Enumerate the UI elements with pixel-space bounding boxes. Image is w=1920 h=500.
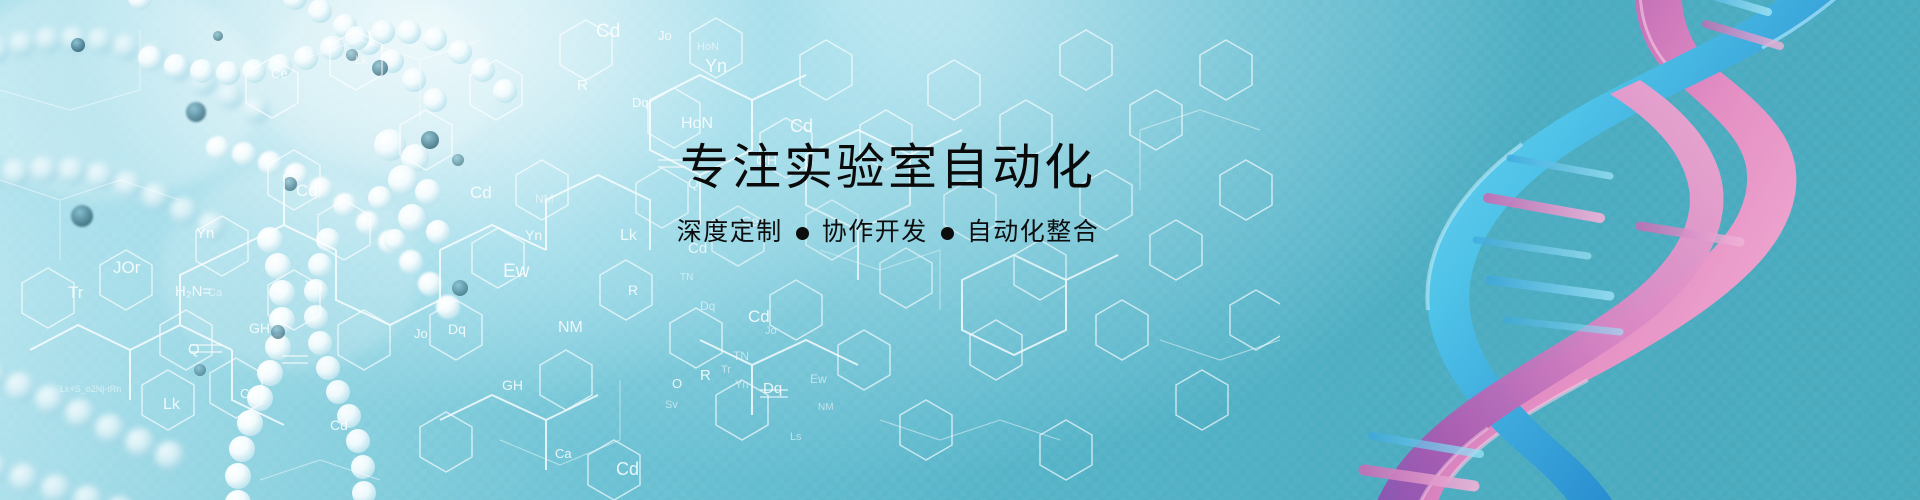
subtitle-item-1: 协作开发 — [822, 217, 928, 248]
background-checker-texture — [0, 0, 1920, 500]
subtitle-item-2: 自动化整合 — [967, 217, 1100, 248]
subtitle-item-0: 深度定制 — [677, 217, 783, 248]
hero-banner: .ln { stroke:#ffffff; stroke-width:1.5; … — [0, 0, 1920, 500]
bullet-dot-icon — [796, 227, 809, 240]
bullet-dot-icon — [941, 227, 954, 240]
banner-copy: 专注实验室自动化 深度定制 协作开发 自动化整合 — [608, 140, 1168, 249]
banner-subtitle: 深度定制 协作开发 自动化整合 — [608, 217, 1168, 248]
page-title: 专注实验室自动化 — [608, 140, 1168, 196]
